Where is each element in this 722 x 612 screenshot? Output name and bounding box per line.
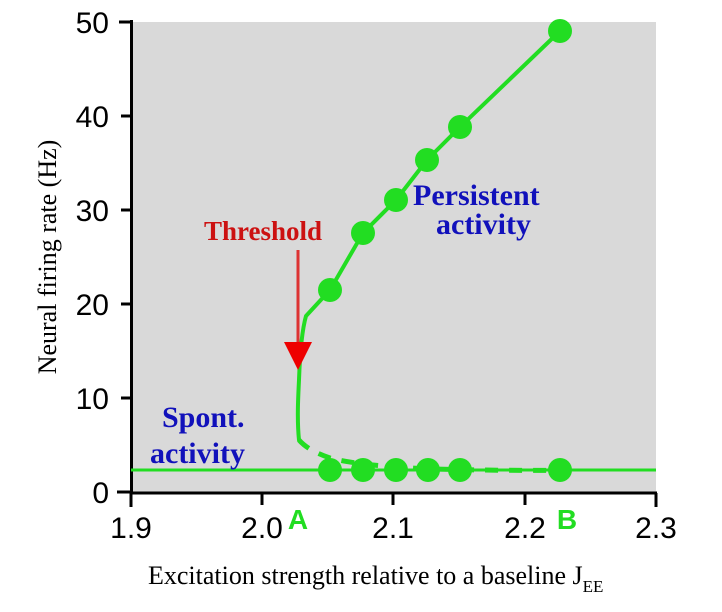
point-b-label: B: [557, 504, 577, 535]
y-tick-label-10: 10: [76, 383, 109, 416]
y-tick-label-50: 50: [76, 7, 109, 40]
x-axis-title-subscript: EE: [583, 577, 604, 596]
spont-activity-label-line2: activity: [150, 437, 245, 470]
data-point: [318, 278, 342, 302]
x-axis-title-text: Excitation strength relative to a baseli…: [148, 561, 583, 590]
y-axis-ticks: [117, 22, 131, 492]
y-tick-label-20: 20: [76, 289, 109, 322]
x-axis-ticks: [131, 493, 656, 507]
data-point: [415, 148, 439, 172]
data-point: [448, 115, 472, 139]
data-point: [384, 458, 408, 482]
x-axis-title: Excitation strength relative to a baseli…: [148, 561, 603, 596]
data-point: [318, 458, 342, 482]
x-tick-label-2-2: 2.2: [504, 512, 546, 545]
data-point: [416, 458, 440, 482]
data-point: [351, 221, 375, 245]
spont-activity-label-line1: Spont.: [162, 401, 245, 434]
figure-container: 50 40 30 20 10 0 1.9 2.0 2.1 2.2 2.3 A B…: [0, 0, 722, 612]
x-tick-label-2-3: 2.3: [635, 512, 677, 545]
point-a-label: A: [288, 504, 308, 535]
persistent-activity-label-line2: activity: [436, 208, 531, 241]
data-point: [548, 19, 572, 43]
x-tick-label-2-1: 2.1: [372, 512, 414, 545]
x-tick-label-1-9: 1.9: [110, 512, 152, 545]
y-tick-label-0: 0: [92, 477, 109, 510]
data-point: [448, 458, 472, 482]
bifurcation-chart: 50 40 30 20 10 0 1.9 2.0 2.1 2.2 2.3 A B…: [0, 0, 722, 612]
data-point: [351, 458, 375, 482]
data-point: [548, 458, 572, 482]
data-point: [384, 188, 408, 212]
y-tick-label-40: 40: [76, 101, 109, 134]
y-axis-title: Neural firing rate (Hz): [33, 140, 62, 375]
threshold-label: Threshold: [204, 216, 322, 246]
y-tick-label-30: 30: [76, 195, 109, 228]
x-tick-label-2-0: 2.0: [241, 512, 283, 545]
